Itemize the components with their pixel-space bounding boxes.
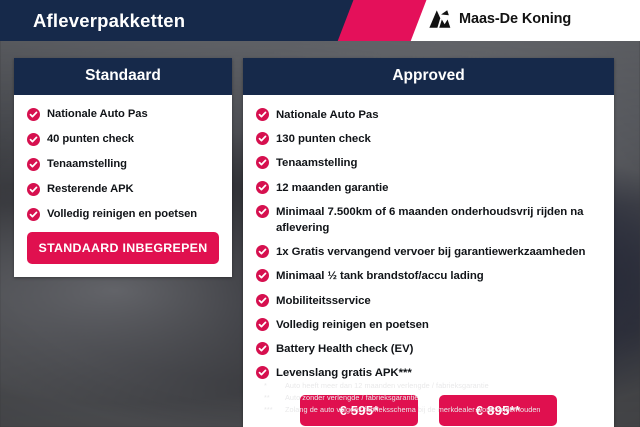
feature-list-approved: Nationale Auto Pas 130 punten check Tena… — [256, 107, 601, 381]
card-body-approved: Nationale Auto Pas 130 punten check Tena… — [243, 95, 614, 427]
list-item: Resterende APK — [27, 182, 219, 198]
brand-lockup: Maas-De Koning — [428, 9, 571, 29]
list-item: Tenaamstelling — [256, 155, 601, 171]
maas-de-koning-m-logo-icon — [428, 9, 452, 29]
list-item: Levenslang gratis APK*** — [256, 365, 601, 381]
list-item: Mobiliteitsservice — [256, 293, 601, 309]
footnote-item: ** Auto zonder verlengde / fabrieksgaran… — [264, 392, 624, 404]
brand-name: Maas-De Koning — [459, 11, 571, 27]
feature-label: Mobiliteitsservice — [276, 293, 371, 309]
feature-label: 130 punten check — [276, 131, 371, 147]
list-item: Volledig reinigen en poetsen — [27, 207, 219, 223]
feature-label: Volledig reinigen en poetsen — [276, 317, 429, 333]
footnote-marker: ** — [264, 392, 278, 404]
footnote-text: Auto zonder verlengde / fabrieksgarantie — [285, 392, 418, 404]
page-header: Afleverpakketten Maas-De Koning — [0, 0, 640, 41]
feature-label: Tenaamstelling — [276, 155, 357, 171]
feature-label: 1x Gratis vervangend vervoer bij garanti… — [276, 244, 585, 260]
circle-check-icon — [256, 108, 269, 121]
list-item: Tenaamstelling — [27, 157, 219, 173]
feature-list-standaard: Nationale Auto Pas 40 punten check Tenaa… — [27, 107, 219, 223]
feature-label: Minimaal 7.500km of 6 maanden onderhouds… — [276, 204, 601, 236]
list-item: Nationale Auto Pas — [256, 107, 601, 123]
list-item: 40 punten check — [27, 132, 219, 148]
footnote-block: * Auto heeft meer dan 12 maanden verleng… — [264, 380, 624, 415]
page-title: Afleverpakketten — [33, 10, 185, 32]
list-item: Volledig reinigen en poetsen — [256, 317, 601, 333]
circle-check-icon — [256, 294, 269, 307]
circle-check-icon — [256, 132, 269, 145]
circle-check-icon — [256, 156, 269, 169]
list-item: Minimaal 7.500km of 6 maanden onderhouds… — [256, 204, 601, 236]
feature-label: Tenaamstelling — [47, 157, 127, 173]
feature-label: Volledig reinigen en poetsen — [47, 207, 197, 223]
circle-check-icon — [256, 342, 269, 355]
footnote-item: *** Zolang de auto volgens fabrieksschem… — [264, 404, 624, 416]
circle-check-icon — [27, 108, 40, 121]
circle-check-icon — [27, 158, 40, 171]
circle-check-icon — [256, 269, 269, 282]
circle-check-icon — [256, 205, 269, 218]
circle-check-icon — [256, 245, 269, 258]
circle-check-icon — [27, 133, 40, 146]
circle-check-icon — [256, 181, 269, 194]
feature-label: Battery Health check (EV) — [276, 341, 413, 357]
feature-label: Levenslang gratis APK*** — [276, 365, 412, 381]
feature-label: Minimaal ½ tank brandstof/accu lading — [276, 268, 484, 284]
promo-slide: Afleverpakketten Maas-De Koning Standaar… — [0, 0, 640, 427]
list-item: Minimaal ½ tank brandstof/accu lading — [256, 268, 601, 284]
list-item: 130 punten check — [256, 131, 601, 147]
card-title-approved: Approved — [243, 58, 614, 95]
list-item: Battery Health check (EV) — [256, 341, 601, 357]
footnote-text: Auto heeft meer dan 12 maanden verlengde… — [285, 380, 489, 392]
circle-check-icon — [256, 366, 269, 379]
feature-label: Nationale Auto Pas — [47, 107, 148, 123]
feature-label: 12 maanden garantie — [276, 180, 388, 196]
package-card-standaard: Standaard Nationale Auto Pas 40 punten c… — [14, 58, 232, 277]
footnote-marker: *** — [264, 404, 278, 416]
footnote-marker: * — [264, 380, 278, 392]
feature-label: Resterende APK — [47, 182, 134, 198]
standaard-inbegrepen-button[interactable]: STANDAARD INBEGREPEN — [27, 232, 219, 264]
package-card-approved: Approved Nationale Auto Pas 130 punten c… — [243, 58, 614, 427]
list-item: 12 maanden garantie — [256, 180, 601, 196]
feature-label: 40 punten check — [47, 132, 134, 148]
card-title-standaard: Standaard — [14, 58, 232, 95]
footnote-item: * Auto heeft meer dan 12 maanden verleng… — [264, 380, 624, 392]
list-item: 1x Gratis vervangend vervoer bij garanti… — [256, 244, 601, 260]
list-item: Nationale Auto Pas — [27, 107, 219, 123]
circle-check-icon — [27, 208, 40, 221]
card-body-standaard: Nationale Auto Pas 40 punten check Tenaa… — [14, 95, 232, 277]
feature-label: Nationale Auto Pas — [276, 107, 378, 123]
circle-check-icon — [256, 318, 269, 331]
footnote-text: Zolang de auto volgens fabrieksschema bi… — [285, 404, 541, 416]
circle-check-icon — [27, 183, 40, 196]
